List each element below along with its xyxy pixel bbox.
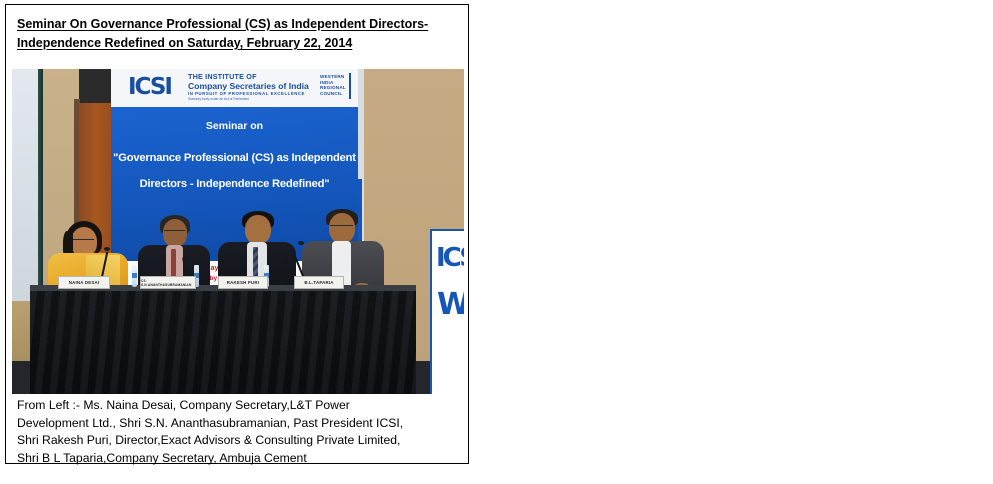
nameplate-rakesh-puri: RAKESH PURI [218,276,268,289]
projection-screen [12,69,38,301]
seminar-label: Seminar on [111,120,358,132]
content-card: Seminar On Governance Professional (CS) … [5,4,469,464]
icsi-org-line-1: THE INSTITUTE OF [188,73,316,81]
standee-sub-text: W [437,287,464,322]
eyeglasses [73,239,94,243]
event-photograph: ICSI THE INSTITUTE OF Company Secretarie… [12,69,464,394]
microphone-head-4 [298,241,304,245]
nameplate-ananthasubramanian: CS. S.N.ANANTHASUBRAMANIAN [140,276,196,289]
nameplate-naina-desai: NAINA DESAI [58,276,110,289]
banner-header: ICSI THE INSTITUTE OF Company Secretarie… [111,69,358,107]
nameplate-bl-taparia: B.L.TAPARIA [294,276,344,289]
page-root: Seminar On Governance Professional (CS) … [0,0,993,484]
photo-caption: From Left :- Ms. Naina Desai, Company Se… [17,397,461,467]
eyeglasses [164,230,185,234]
seminar-title: "Governance Professional (CS) as Indepen… [107,145,362,197]
caption-line-1: From Left :- Ms. Naina Desai, Company Se… [17,397,461,415]
caption-line-4: Shri B L Taparia,Company Secretary, Ambu… [17,450,461,468]
caption-line-2: Development Ltd., Shri S.N. Ananthasubra… [17,415,461,433]
eyeglasses [330,225,353,229]
regional-council-label: WESTERN INDIA REGIONAL COUNCIL [320,74,346,96]
microphone-head-1 [104,247,110,251]
caption-line-3: Shri Rakesh Puri, Director,Exact Advisor… [17,432,461,450]
page-title: Seminar On Governance Professional (CS) … [17,15,457,53]
page-title-line-1: Seminar On Governance Professional (CS) … [17,17,428,31]
icsi-standee: ICSI W [430,229,464,394]
water-bottle-1 [132,265,137,287]
standee-logo-icon: ICSI [436,243,464,273]
dais-table [30,291,416,394]
head [245,215,271,244]
icsi-logo: ICSI [128,74,186,100]
banner-divider [349,73,351,99]
icsi-organisation-name: THE INSTITUTE OF Company Secretaries of … [188,73,316,102]
page-title-line-2: Independence Redefined on Saturday, Febr… [17,36,352,50]
icsi-org-line-4: Statutory body under an Act of Parliamen… [188,97,316,102]
icsi-org-line-2: Company Secretaries of India [188,81,316,91]
table-drape [30,291,416,394]
